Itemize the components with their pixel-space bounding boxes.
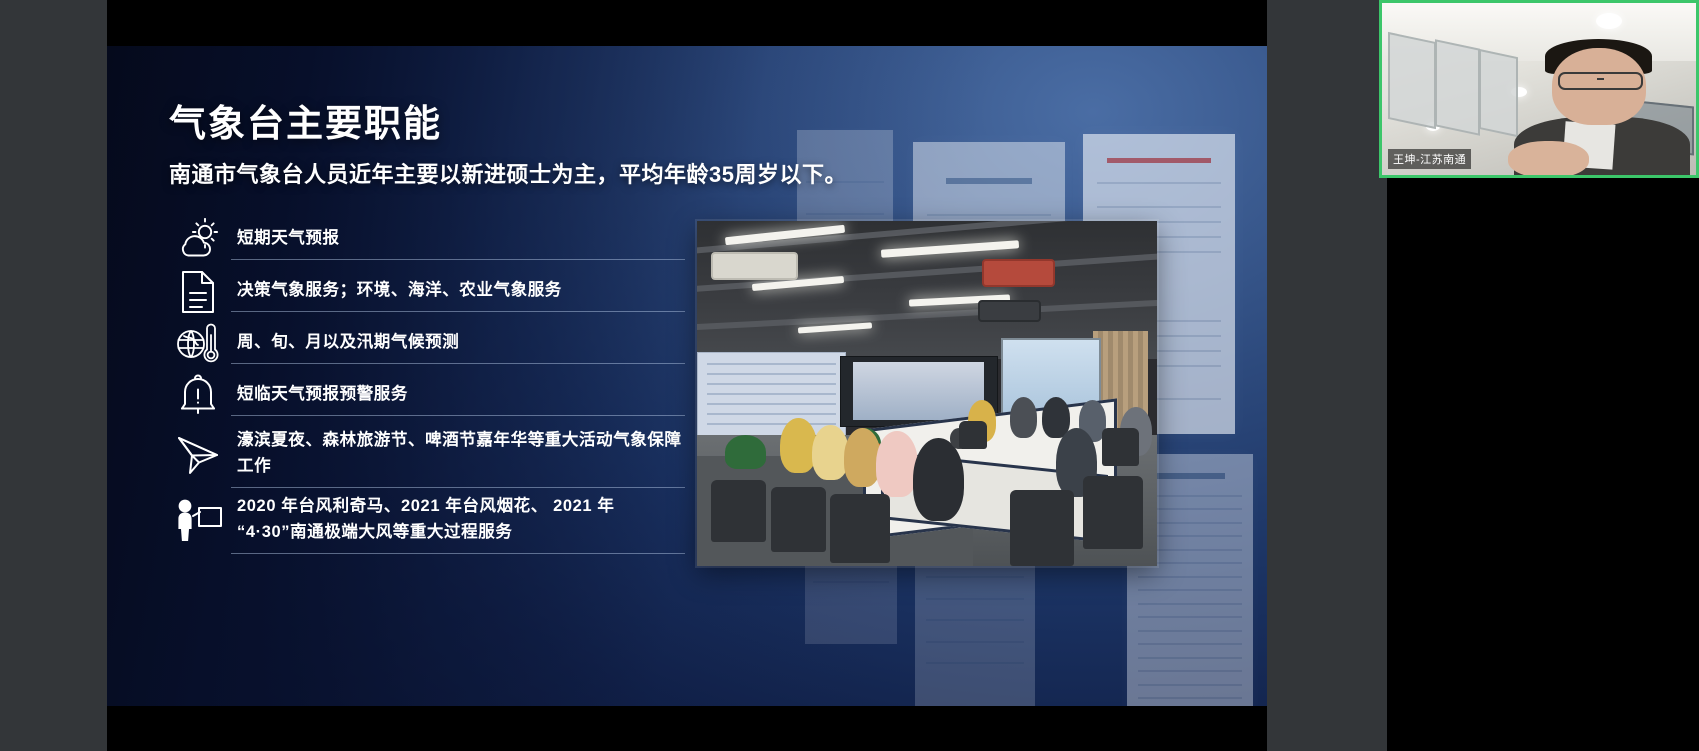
list-item-label: 短临天气预报预警服务 (231, 376, 685, 417)
globe-thermometer-icon (165, 321, 231, 367)
list-item-label: 决策气象服务；环境、海洋、农业气象服务 (231, 272, 685, 313)
document-icon (165, 269, 231, 315)
photo-projection-left (697, 352, 846, 437)
paper-plane-icon (165, 432, 231, 478)
list-item-label: 周、旬、月以及汛期气候预测 (231, 324, 685, 365)
slide-title: 气象台主要职能 (169, 93, 442, 147)
participant-video-tile[interactable]: 王坤-江苏南通 (1379, 0, 1699, 178)
presentation-slide: 气象台主要职能 南通市气象台人员近年主要以新进硕士为主，平均年龄35周岁以下。 … (107, 46, 1267, 706)
list-item-label: 短期天气预报 (231, 220, 685, 261)
presenter-icon (165, 498, 231, 544)
list-item-label: 濠滨夏夜、森林旅游节、啤酒节嘉年华等重大活动气象保障工作 (231, 422, 685, 488)
bell-alert-icon (165, 373, 231, 419)
meeting-room-photo (697, 221, 1157, 566)
glasses-icon (1558, 72, 1644, 90)
function-list: 短期天气预报 决策气象服务；环境、海洋、农业气象服务 (165, 214, 685, 554)
list-item: 短临天气预报预警服务 (165, 370, 685, 422)
slide-subtitle: 南通市气象台人员近年主要以新进硕士为主，平均年龄35周岁以下。 (169, 157, 847, 189)
screen-share-viewport: 气象台主要职能 南通市气象台人员近年主要以新进硕士为主，平均年龄35周岁以下。 … (0, 0, 1699, 751)
participant-name-label: 王坤-江苏南通 (1388, 149, 1471, 169)
list-item: 周、旬、月以及汛期气候预测 (165, 318, 685, 370)
viewport-gutter-right (1267, 0, 1387, 751)
slide-letterbox: 气象台主要职能 南通市气象台人员近年主要以新进硕士为主，平均年龄35周岁以下。 … (107, 0, 1267, 751)
list-item: 决策气象服务；环境、海洋、农业气象服务 (165, 266, 685, 318)
viewport-gutter-left (0, 0, 107, 751)
sun-cloud-icon (165, 218, 231, 262)
list-item-label: 2020 年台风利奇马、2021 年台风烟花、 2021 年 “4·30”南通极… (231, 488, 685, 554)
participant-hand (1508, 141, 1590, 178)
list-item: 濠滨夏夜、森林旅游节、啤酒节嘉年华等重大活动气象保障工作 (165, 422, 685, 488)
list-item: 短期天气预报 (165, 214, 685, 266)
list-item: 2020 年台风利奇马、2021 年台风烟花、 2021 年 “4·30”南通极… (165, 488, 685, 554)
